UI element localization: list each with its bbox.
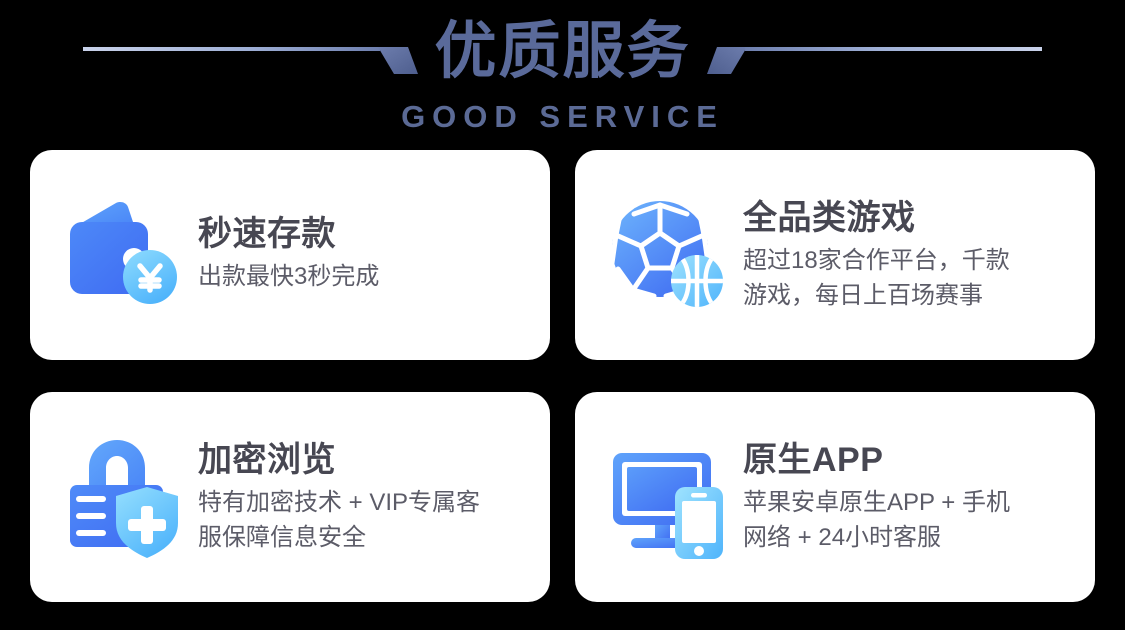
card-title: 原生APP xyxy=(743,441,1069,479)
card-description-line-1: 特有加密技术 + VIP专属客 xyxy=(198,486,524,521)
card-title: 全品类游戏 xyxy=(743,199,1069,237)
angled-line-left-icon xyxy=(83,24,418,80)
promo-banner: 优质服务 xyxy=(0,0,1125,630)
feature-card-native-app[interactable]: 原生APP 苹果安卓原生APP + 手机 网络 + 24小时客服 xyxy=(575,392,1095,602)
header-title-row: 优质服务 xyxy=(0,8,1125,96)
page-subtitle: GOOD SERVICE xyxy=(0,100,1125,134)
card-text-block: 原生APP 苹果安卓原生APP + 手机 网络 + 24小时客服 xyxy=(735,439,1069,556)
card-text-block: 全品类游戏 超过18家合作平台，千款 游戏，每日上百场赛事 xyxy=(735,197,1069,314)
card-description-line-2: 游戏，每日上百场赛事 xyxy=(743,279,1069,314)
page-title: 优质服务 xyxy=(418,21,706,83)
card-text-block: 秒速存款 出款最快3秒完成 xyxy=(190,215,524,295)
card-description-line-2: 网络 + 24小时客服 xyxy=(743,521,1069,556)
soccer-basketball-icon xyxy=(603,189,735,321)
card-description-line-1: 超过18家合作平台，千款 xyxy=(743,244,1069,279)
card-description-line-1: 出款最快3秒完成 xyxy=(198,260,524,295)
header: 优质服务 xyxy=(0,0,1125,148)
wallet-yen-icon xyxy=(58,189,190,321)
lock-shield-icon xyxy=(58,431,190,563)
card-text-block: 加密浏览 特有加密技术 + VIP专属客 服保障信息安全 xyxy=(190,439,524,556)
feature-card-grid: 秒速存款 出款最快3秒完成 xyxy=(30,150,1095,602)
feature-card-all-games[interactable]: 全品类游戏 超过18家合作平台，千款 游戏，每日上百场赛事 xyxy=(575,150,1095,360)
card-title: 加密浏览 xyxy=(198,441,524,479)
feature-card-encrypted-browsing[interactable]: 加密浏览 特有加密技术 + VIP专属客 服保障信息安全 xyxy=(30,392,550,602)
card-description-line-2: 服保障信息安全 xyxy=(198,521,524,556)
monitor-phone-icon xyxy=(603,431,735,563)
feature-card-instant-deposit[interactable]: 秒速存款 出款最快3秒完成 xyxy=(30,150,550,360)
angled-line-right-icon xyxy=(707,24,1042,80)
card-description-line-1: 苹果安卓原生APP + 手机 xyxy=(743,486,1069,521)
card-title: 秒速存款 xyxy=(198,215,524,253)
